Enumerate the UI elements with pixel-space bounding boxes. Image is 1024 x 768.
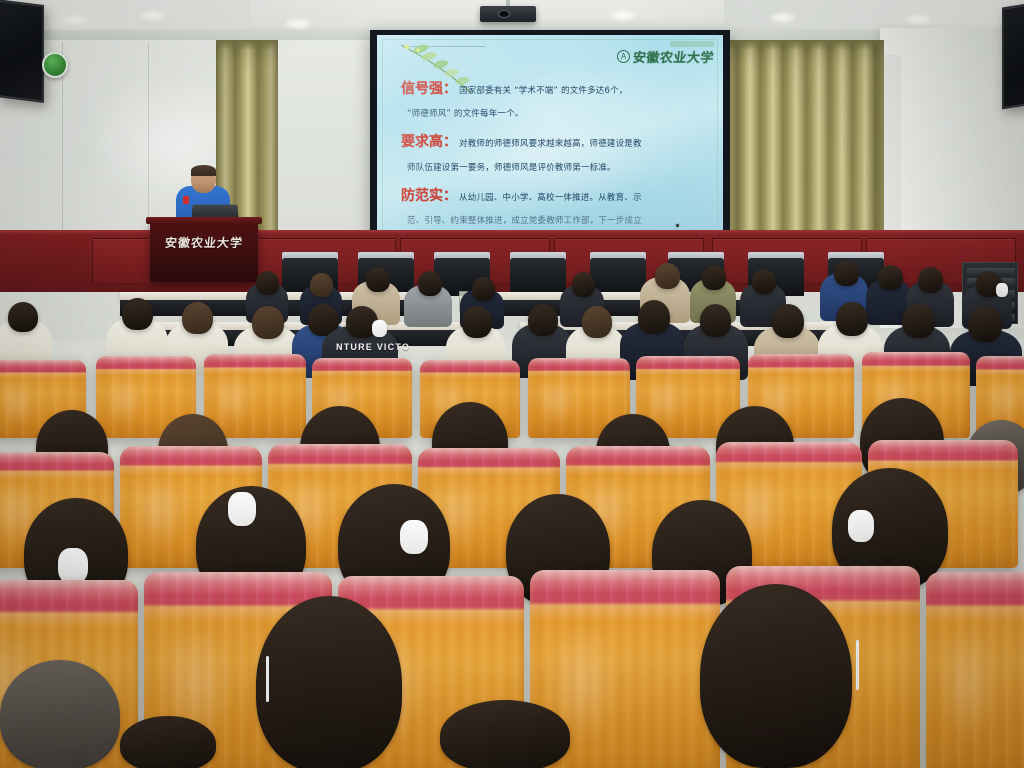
ceiling-downlight <box>770 12 796 23</box>
attendee-head-foreground <box>700 584 852 768</box>
attendee-head <box>752 269 776 294</box>
podium-top-edge <box>146 217 262 224</box>
university-logo-mark: A <box>617 50 630 63</box>
attendee-head-foreground <box>120 716 216 768</box>
attendee-head-foreground <box>440 700 570 768</box>
podium: 安徽农业大学 <box>150 222 258 282</box>
slide-body: 信号强：国家部委有关 “学术不端” 的文件多达6个， “师德师风” 的文件每年一… <box>401 77 709 237</box>
projector-lens-icon <box>498 10 510 18</box>
attendee-head <box>878 265 903 290</box>
face-mask <box>228 492 256 526</box>
attendee-head <box>252 306 284 339</box>
ceiling-downlight <box>285 18 311 29</box>
attendee-head <box>918 267 943 293</box>
slide-text: 对教师的师德师风要求越来越高，师德建设是教 <box>459 139 642 149</box>
attendee-head <box>968 306 1002 342</box>
slide-text: 国家部委有关 “学术不端” 的文件多达6个， <box>459 86 628 96</box>
slide-keyword: 要求高： <box>401 134 457 150</box>
mask-strap <box>856 640 859 690</box>
slide-text: “师德师风” 的文件每年一个。 <box>407 109 524 119</box>
slide-text: 从幼儿园、中小学、高校一体推进。从教育、示 <box>459 193 642 203</box>
attendee-head <box>366 267 390 292</box>
lecture-hall-photo: A 安徽农业大学 信号强：国家部委有关 “学术不端” 的文件多达6个， “师德师… <box>0 0 1024 768</box>
attendee-head-foreground <box>0 660 120 768</box>
attendee-head-foreground <box>256 596 402 768</box>
speaker-badge <box>183 196 189 204</box>
attendee-head <box>256 271 279 295</box>
wall-monitor-right <box>1002 0 1024 110</box>
wall-monitor-left <box>0 0 44 103</box>
attendee-head <box>122 298 153 330</box>
attendee-head <box>462 306 492 338</box>
jacket-logo-text: NTURE VICTO <box>336 342 410 352</box>
attendee-head <box>572 272 595 297</box>
slide-keyword: 信号强： <box>401 81 457 97</box>
attendee-head <box>472 277 495 301</box>
ceiling-downlight <box>610 10 636 21</box>
speaker-hair <box>191 165 216 176</box>
projection-screen-frame: A 安徽农业大学 信号强：国家部委有关 “学术不端” 的文件多达6个， “师德师… <box>370 30 730 242</box>
mask-strap <box>266 656 269 702</box>
slide-line: 防范实：从幼儿园、中小学、高校一体推进。从教育、示 <box>401 184 709 207</box>
slide-keyword: 防范实： <box>401 188 457 204</box>
attendee-head <box>638 300 670 334</box>
attendee-head <box>655 263 680 289</box>
projection-screen: A 安徽农业大学 信号强：国家部委有关 “学术不端” 的文件多达6个， “师德师… <box>377 35 723 237</box>
ceiling-downlight <box>62 14 88 25</box>
dais-chair <box>510 258 566 296</box>
slide-line: 信号强：国家部委有关 “学术不端” 的文件多达6个， <box>401 77 709 100</box>
face-mask <box>848 510 874 542</box>
attendee-head <box>702 265 726 290</box>
slide-line: 范、引导、约束整体推进，成立党委教师工作部，下一步成立 <box>401 207 709 230</box>
face-mask <box>400 520 428 554</box>
slide-university-logo: A 安徽农业大学 <box>617 47 714 66</box>
attendee-head <box>582 306 612 338</box>
slide-block: 要求高：对教师的师德师风要求越来越高，师德建设是教 师队伍建设第一要务，师德师风… <box>401 130 709 176</box>
face-mask <box>996 283 1008 297</box>
face-mask <box>372 320 387 337</box>
slide-line: “师德师风” 的文件每年一个。 <box>401 100 709 123</box>
ceiling-projector <box>480 6 536 22</box>
attendee-head <box>8 302 38 332</box>
slide-block: 防范实：从幼儿园、中小学、高校一体推进。从教育、示 范、引导、约束整体推进，成立… <box>401 184 709 237</box>
attendee-head <box>772 304 804 338</box>
slide-line: 要求高：对教师的师德师风要求越来越高，师德建设是教 <box>401 130 709 153</box>
slide-line: 师队伍建设第一要务，师德师风是评价教师第一标准。 <box>401 154 709 177</box>
podium-banner-text: 安徽农业大学 <box>149 234 259 251</box>
slide-block: 信号强：国家部委有关 “学术不端” 的文件多达6个， “师德师风” 的文件每年一… <box>401 77 709 123</box>
attendee-head <box>310 273 333 297</box>
pointer-dot <box>676 224 679 227</box>
attendee-head <box>902 304 935 338</box>
attendee-head <box>182 302 213 334</box>
ceiling-downlight <box>905 14 931 25</box>
university-logo-text: 安徽农业大学 <box>632 47 715 66</box>
attendee-head <box>528 304 558 336</box>
attendee-head <box>418 271 442 296</box>
face-mask <box>58 548 88 584</box>
slide-text: 范、引导、约束整体推进，成立党委教师工作部，下一步成立 <box>407 216 642 226</box>
ceiling-downlight <box>140 10 166 21</box>
attendee-head <box>834 261 859 286</box>
auditorium-seat[interactable] <box>204 354 306 438</box>
slide-text: 师队伍建设第一要务，师德师风是评价教师第一标准。 <box>407 163 616 173</box>
attendee-head <box>700 304 731 337</box>
attendee-head <box>836 302 868 336</box>
auditorium-seat[interactable] <box>926 572 1024 768</box>
university-emblem <box>42 52 68 78</box>
